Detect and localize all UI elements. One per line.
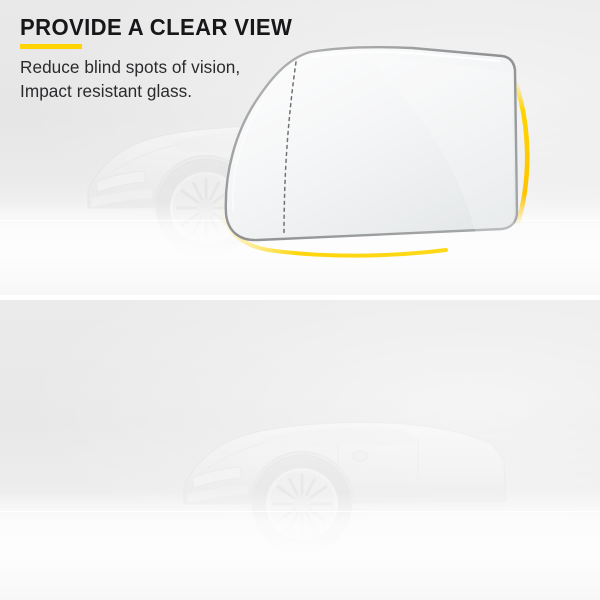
product-feature-sheet: PROVIDE A CLEAR VIEW Reduce blind spots … xyxy=(0,0,600,600)
panel-heading: PROVIDE A CLEAR VIEW xyxy=(20,14,292,40)
panel-vignette xyxy=(0,300,600,600)
panel-body-text: Reduce blind spots of vision, Impact res… xyxy=(20,56,304,103)
panel-clear-view: PROVIDE A CLEAR VIEW Reduce blind spots … xyxy=(0,0,600,295)
panel-divider xyxy=(0,295,600,300)
heading-underline-accent xyxy=(20,44,82,49)
panel-abs-bracket: HIGH QUALITY ABS MATERLAL WITH BRACKET T… xyxy=(0,300,600,600)
text-block-clear-view: PROVIDE A CLEAR VIEW Reduce blind spots … xyxy=(20,14,304,103)
